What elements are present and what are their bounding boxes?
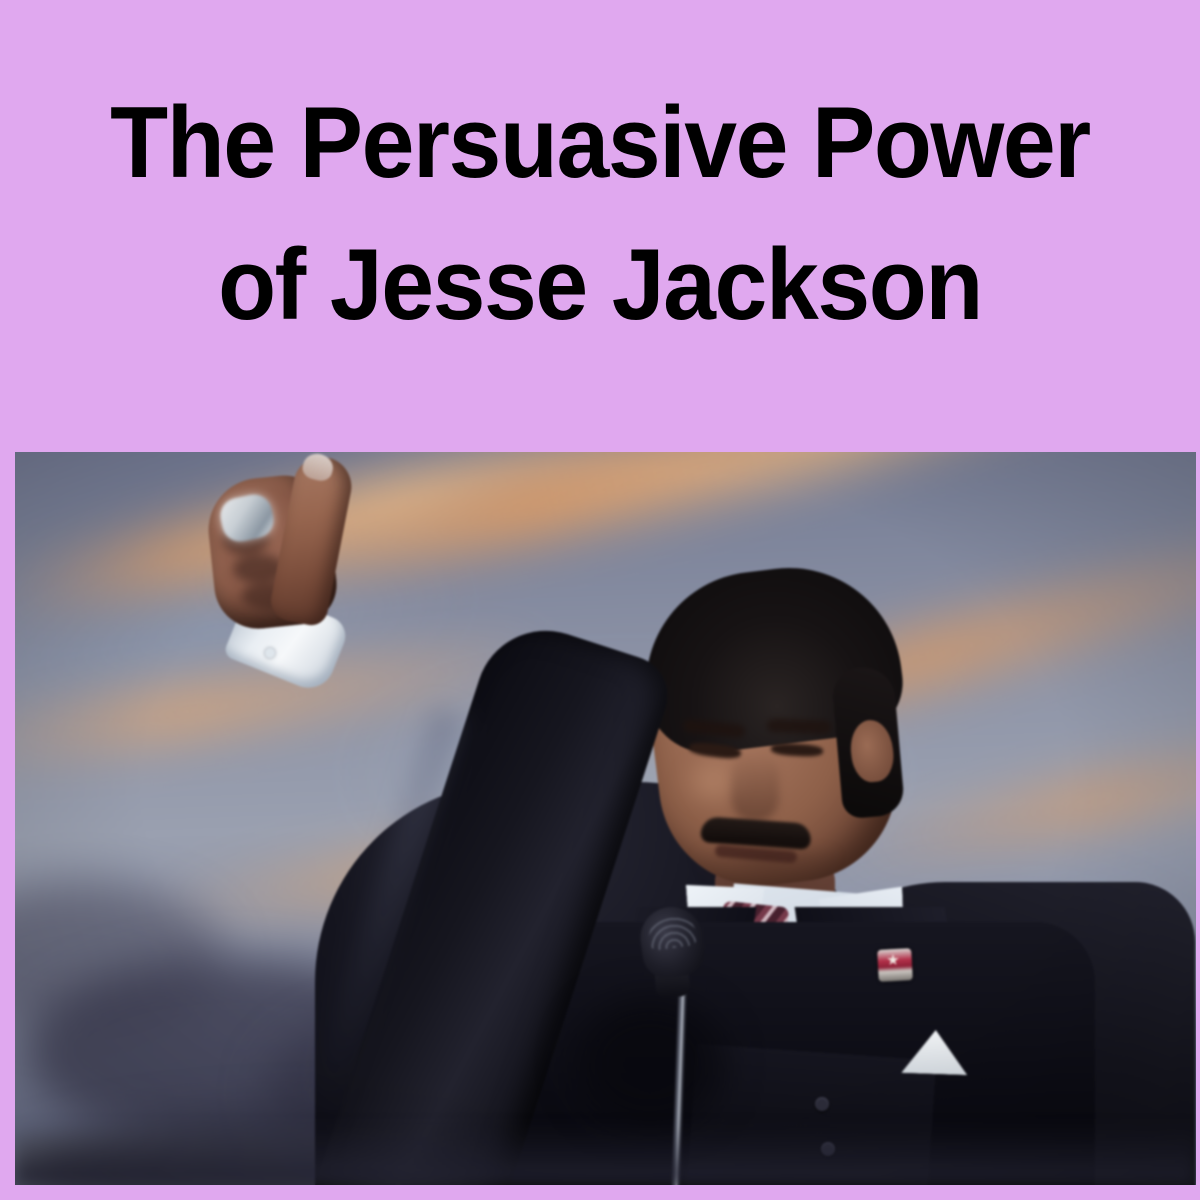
title-line-2: of Jesse Jackson bbox=[36, 214, 1164, 356]
page-title: The Persuasive Power of Jesse Jackson bbox=[0, 72, 1200, 356]
poster-canvas: The Persuasive Power of Jesse Jackson bbox=[0, 0, 1200, 1200]
eyebrow-right bbox=[767, 719, 831, 734]
vest-button-1 bbox=[815, 1097, 829, 1111]
lapel-pin bbox=[877, 948, 913, 982]
title-line-1: The Persuasive Power bbox=[36, 72, 1164, 214]
figure-jesse-jackson bbox=[15, 452, 1196, 1185]
microphone-shadow bbox=[575, 997, 725, 1127]
photo-bottom-shadow bbox=[15, 1125, 1196, 1185]
nose bbox=[731, 752, 779, 822]
hero-photo bbox=[15, 452, 1196, 1185]
